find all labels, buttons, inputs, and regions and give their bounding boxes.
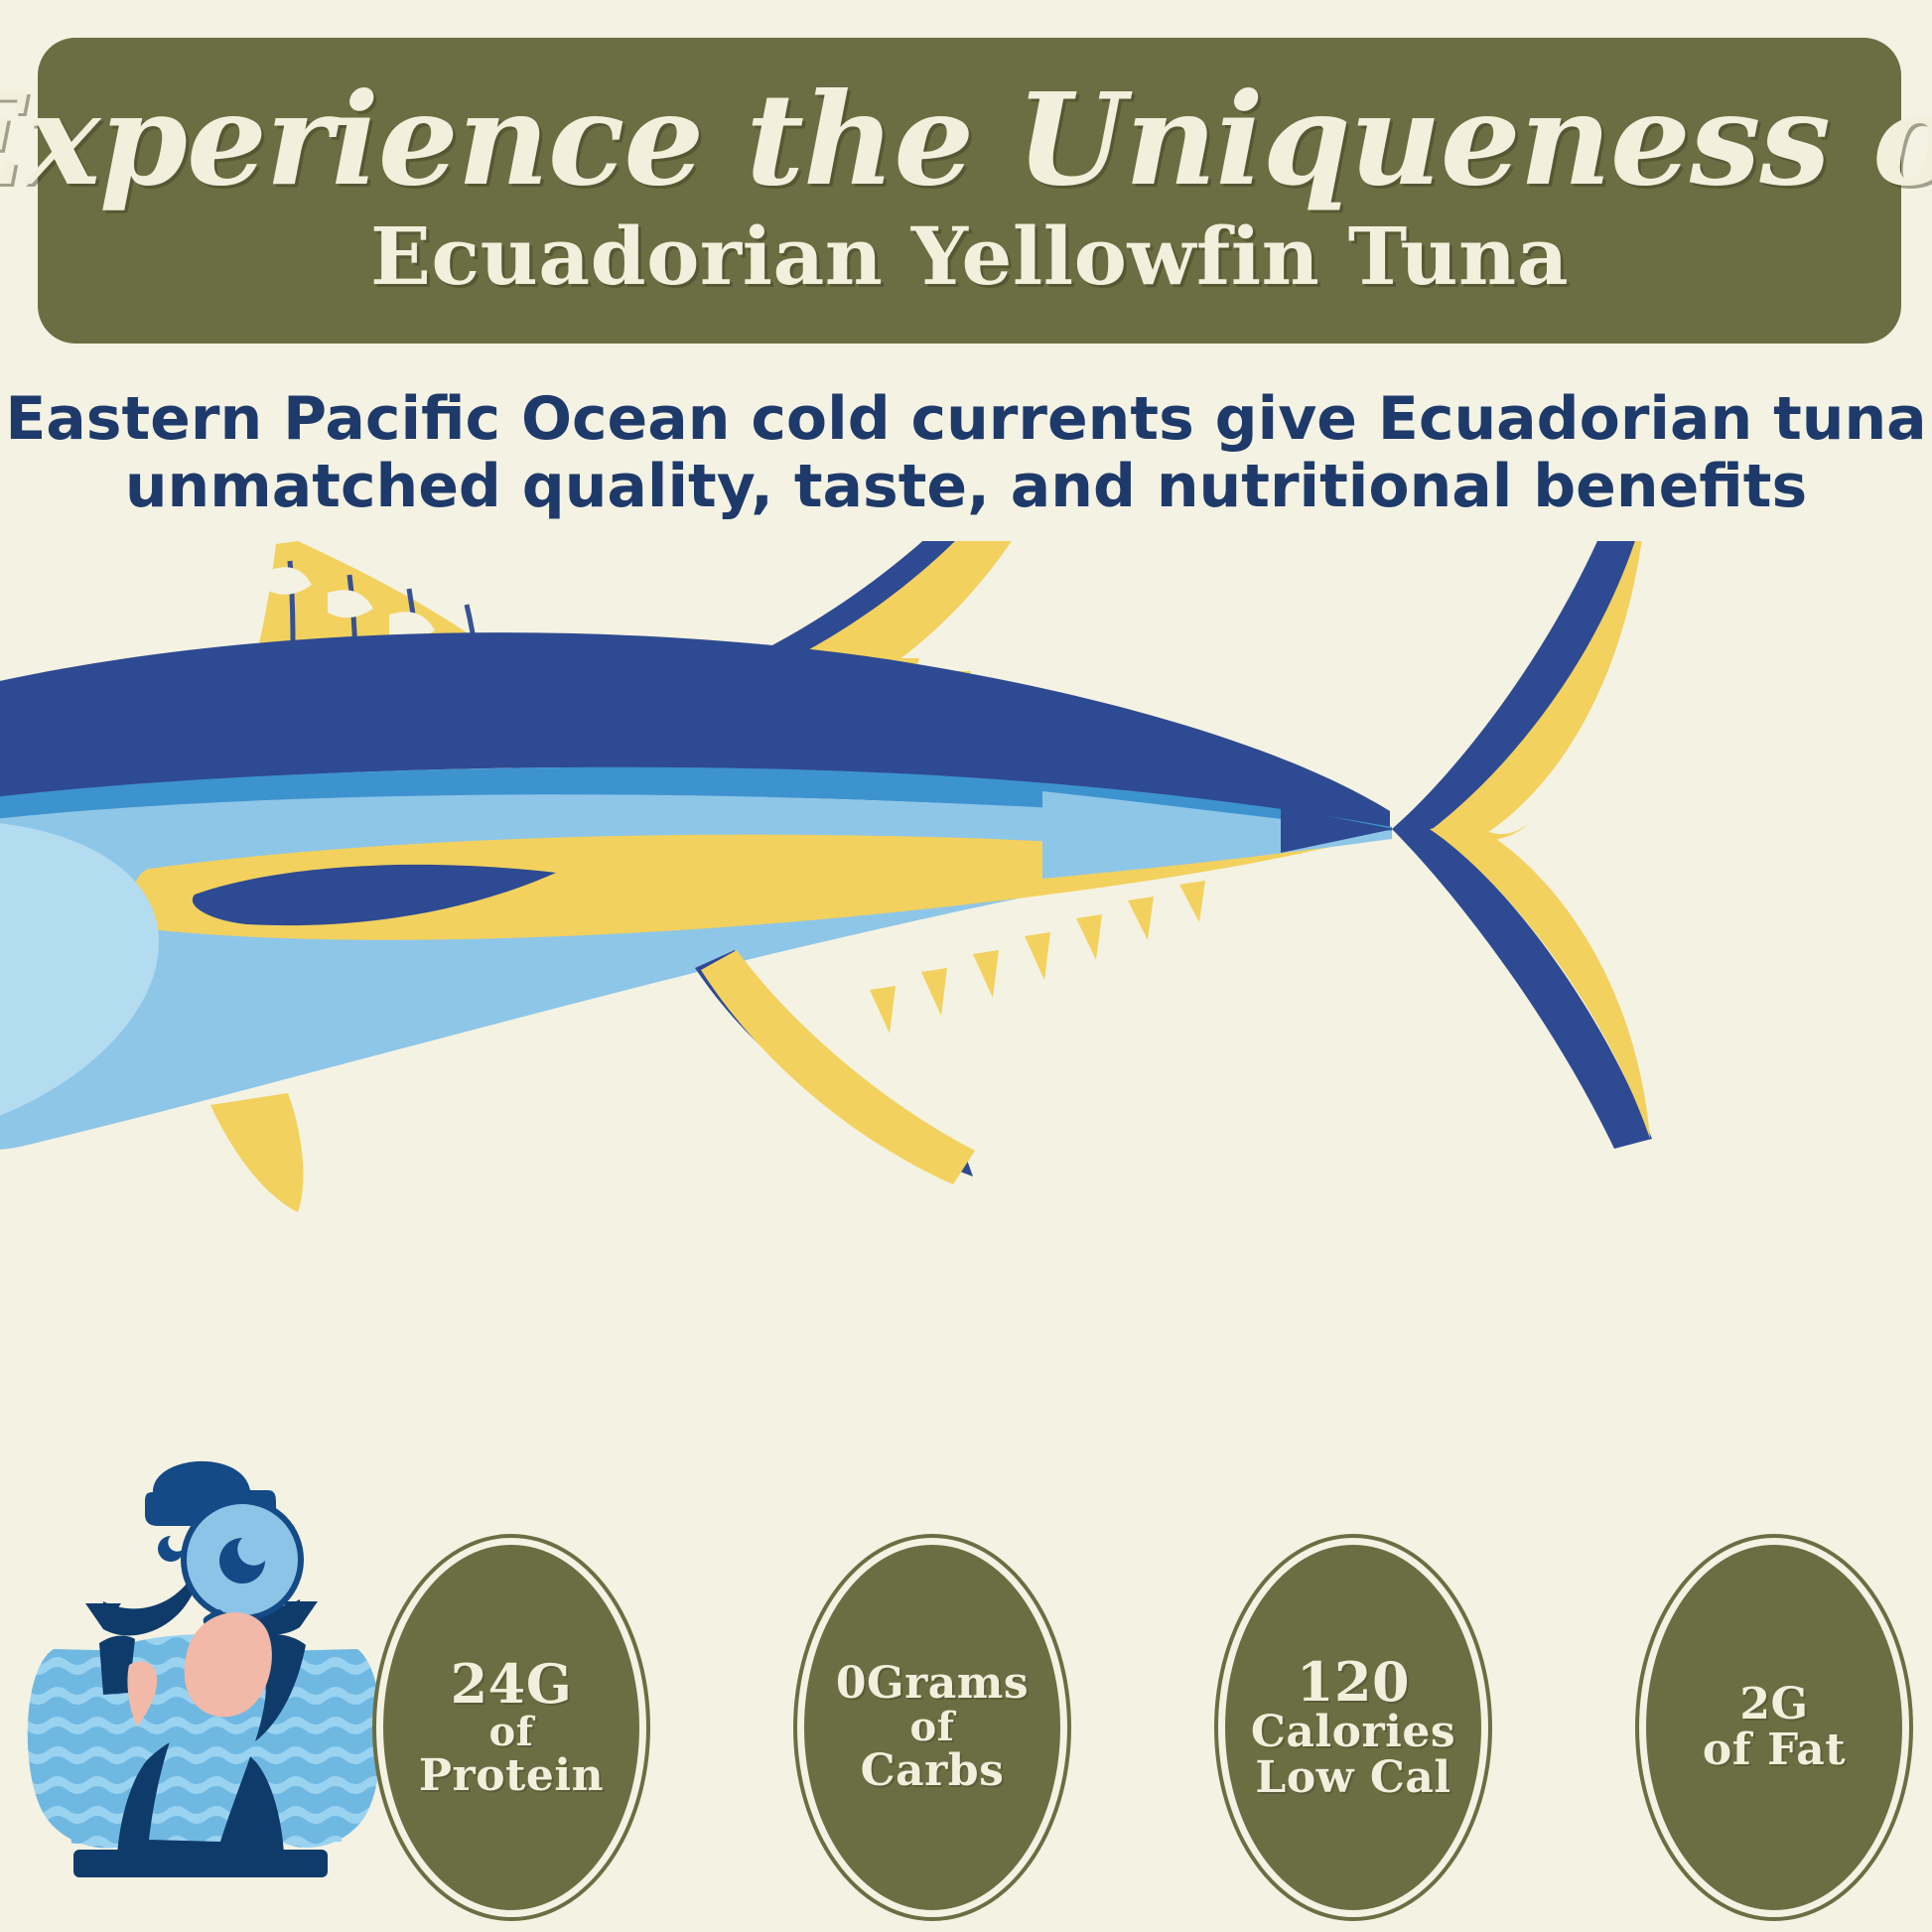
nutrition-sublabel: Low Cal	[1255, 1755, 1450, 1801]
nutrition-value: 120	[1297, 1654, 1410, 1710]
nutrition-label: Calories	[1251, 1710, 1455, 1755]
subtitle-line-1: Eastern Pacific Ocean cold currents give…	[0, 385, 1932, 453]
nutrition-label: Protein	[419, 1753, 604, 1799]
title-script-line: Experience the Uniqueness of	[0, 76, 1932, 203]
nutrition-label: Carbs	[861, 1748, 1005, 1794]
nutrition-connector: of	[489, 1712, 534, 1753]
nutrition-value: 0Grams	[836, 1661, 1029, 1707]
subtitle-line-2: unmatched quality, taste, and nutritiona…	[0, 453, 1932, 520]
nutrition-circle-protein[interactable]: 24G of Protein	[383, 1545, 639, 1910]
title-bold-line: Ecuadorian Yellowfin Tuna	[370, 216, 1569, 296]
nutrition-facts-row: 24G of Protein 0Grams of Carbs 120 Calor…	[383, 1545, 1902, 1932]
nutrition-circle-calories[interactable]: 120 Calories Low Cal	[1225, 1545, 1481, 1910]
nutrition-value: 2G	[1739, 1682, 1808, 1727]
fisherman-illustration	[8, 1445, 395, 1932]
subtitle-paragraph: Eastern Pacific Ocean cold currents give…	[0, 385, 1932, 521]
title-banner: Experience the Uniqueness of Ecuadorian …	[38, 38, 1901, 344]
nutrition-circle-carbs[interactable]: 0Grams of Carbs	[804, 1545, 1060, 1910]
nutrition-label: of Fat	[1703, 1727, 1846, 1773]
infographic-root: Experience the Uniqueness of Ecuadorian …	[0, 0, 1932, 1932]
caudal-tail-fin	[1392, 541, 1652, 1149]
pelvic-fin	[210, 1093, 303, 1212]
nutrition-connector: of	[910, 1707, 955, 1748]
nutrition-value: 24G	[451, 1656, 573, 1712]
yellowfin-tuna-illustration	[0, 541, 1932, 1256]
nutrition-circle-fat[interactable]: 2G of Fat	[1646, 1545, 1902, 1910]
